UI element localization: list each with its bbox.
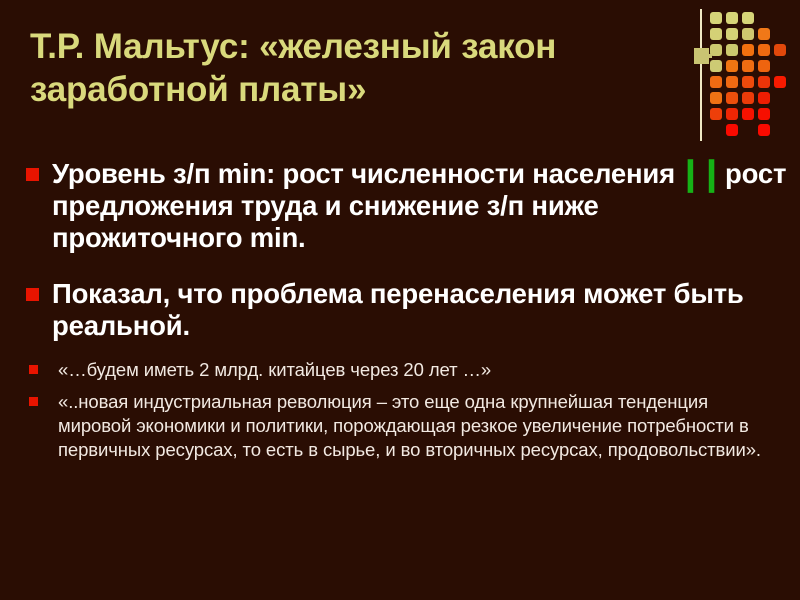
ornament-dot-icon [742, 44, 754, 56]
implies-glyph-icon: ❙❙ [675, 155, 725, 193]
ornament-dot-icon [758, 108, 770, 120]
bullet-item-1: Уровень з/п min: рост численности населе… [0, 158, 800, 254]
bullet-marker-icon [29, 397, 38, 406]
ornament-dot-icon [758, 28, 770, 40]
slide-canvas: Т.Р. Мальтус: «железный закон заработной… [0, 0, 800, 600]
spacer [0, 382, 800, 390]
ornament-dot-icon [758, 92, 770, 104]
ornament-dot-icon [742, 92, 754, 104]
spacer [0, 342, 800, 358]
ornament-dot-icon [742, 60, 754, 72]
bullet-item-2: Показал, что проблема перенаселения може… [0, 278, 800, 342]
ornament-dot-icon [726, 124, 738, 136]
bullet-1-text-before: Уровень з/п min: рост численности населе… [52, 158, 675, 189]
ornament-dot-icon [742, 28, 754, 40]
slide-body: Уровень з/п min: рост численности населе… [0, 158, 800, 462]
bullet-3-text: «…будем иметь 2 млрд. китайцев через 20 … [58, 359, 491, 380]
bullet-marker-icon [26, 168, 39, 181]
ornament-dot-icon [774, 44, 786, 56]
ornament-dot-icon [742, 12, 754, 24]
bullet-4-text: «..новая индустриальная революция – это … [58, 391, 761, 460]
ornament-dot-icon [758, 44, 770, 56]
bullet-marker-icon [26, 288, 39, 301]
ornament-dot-icon [726, 12, 738, 24]
bullet-item-3: «…будем иметь 2 млрд. китайцев через 20 … [0, 358, 800, 382]
spacer [0, 254, 800, 278]
bullet-marker-icon [29, 365, 38, 374]
slide-title: Т.Р. Мальтус: «железный закон заработной… [30, 26, 730, 111]
ornament-dot-icon [758, 124, 770, 136]
ornament-dot-icon [774, 76, 786, 88]
ornament-dot-icon [758, 76, 770, 88]
bullet-item-4: «..новая индустриальная революция – это … [0, 390, 800, 462]
ornament-dot-icon [742, 108, 754, 120]
ornament-dot-icon [742, 76, 754, 88]
ornament-dot-icon [758, 60, 770, 72]
ornament-dot-icon [710, 12, 722, 24]
bullet-2-text: Показал, что проблема перенаселения може… [52, 278, 744, 341]
